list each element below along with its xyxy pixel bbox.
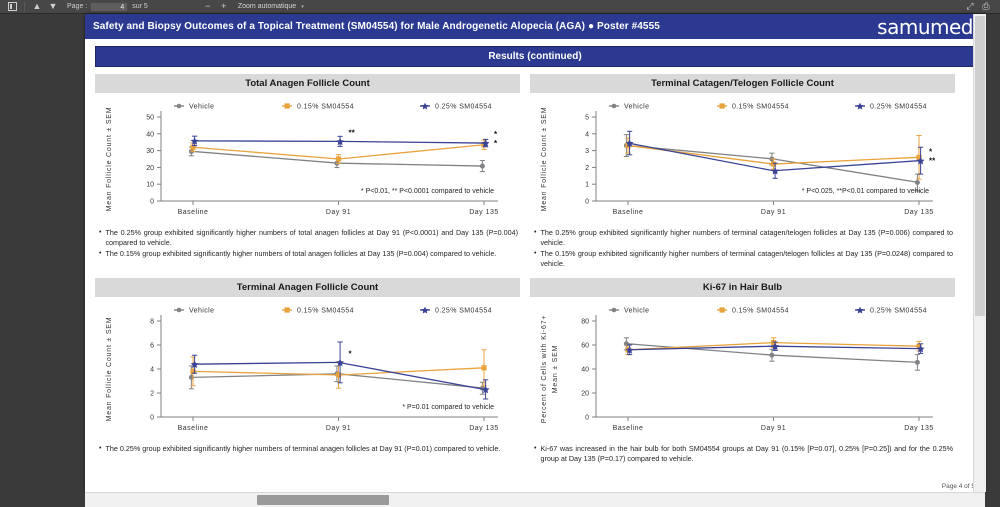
y-axis-title: Mean ± SEM xyxy=(552,345,559,393)
bullet-dot: • xyxy=(99,249,101,259)
bullet-item: •Ki-67 was increased in the hair bulb fo… xyxy=(534,444,953,463)
panel-ki67: Ki-67 in Hair Bulb 020406080Percent of C… xyxy=(530,278,955,465)
x-tick-label: Day 91 xyxy=(761,425,786,432)
bullet-dot: • xyxy=(534,228,536,247)
y-tick-label: 0 xyxy=(585,199,589,206)
x-tick-label: Day 135 xyxy=(469,425,499,432)
chart-svg-terminal-catagen-telogen: 012345Mean Follicle Count ± SEMBaselineD… xyxy=(530,95,955,223)
page-number-input[interactable]: 4 xyxy=(90,2,128,12)
chart-svg-total-anagen: 01020304050Mean Follicle Count ± SEMBase… xyxy=(95,95,520,223)
significance-marker: * xyxy=(929,148,933,157)
y-tick-label: 0 xyxy=(150,199,154,206)
page-footer: Page 4 of 5 xyxy=(942,483,975,490)
chart-terminal-catagen-telogen: 012345Mean Follicle Count ± SEMBaselineD… xyxy=(530,95,955,223)
bullet-text: The 0.25% group exhibited significantly … xyxy=(105,444,518,454)
pdf-viewer-toolbar: ▲ ▼ Page : 4 sur 5 − + Zoom automatique … xyxy=(0,0,1000,14)
chart-annotation: * P<0.025, **P<0.01 compared to vehicle xyxy=(802,188,929,195)
x-tick-label: Day 135 xyxy=(904,209,934,216)
page-count-label: sur 5 xyxy=(132,3,148,10)
zoom-out-icon[interactable]: − xyxy=(202,1,214,13)
chart-svg-terminal-anagen: 02468Mean Follicle Count ± SEMBaselineDa… xyxy=(95,299,520,439)
significance-marker: ** xyxy=(349,128,356,137)
legend-label: Vehicle xyxy=(624,104,649,111)
bullet-text: The 0.15% group exhibited significantly … xyxy=(105,249,518,259)
y-tick-label: 4 xyxy=(585,131,589,138)
bullets-ki67: •Ki-67 was increased in the hair bulb fo… xyxy=(534,444,953,463)
chart-row-bottom: Terminal Anagen Follicle Count 02468Mean… xyxy=(95,278,975,465)
bullets-terminal-anagen: •The 0.25% group exhibited significantly… xyxy=(99,444,518,454)
data-point xyxy=(915,180,920,185)
y-tick-label: 20 xyxy=(581,390,589,397)
zoom-level-value: Zoom automatique xyxy=(238,3,296,10)
toolbar-divider xyxy=(24,2,25,12)
significance-marker: ** xyxy=(929,157,936,166)
horizontal-scrollbar-thumb[interactable] xyxy=(257,495,389,505)
y-tick-label: 20 xyxy=(146,165,154,172)
bullet-item: •The 0.15% group exhibited significantly… xyxy=(99,249,518,259)
bullet-item: •The 0.25% group exhibited significantly… xyxy=(99,444,518,454)
y-tick-label: 50 xyxy=(146,115,154,122)
horizontal-scrollbar[interactable] xyxy=(85,492,985,507)
y-tick-label: 60 xyxy=(581,342,589,349)
section-header-results: Results (continued) xyxy=(95,46,975,67)
legend-label: Vehicle xyxy=(624,307,649,314)
legend-label: 0.15% SM04554 xyxy=(732,307,789,314)
y-tick-label: 3 xyxy=(585,148,589,155)
vertical-scrollbar-thumb[interactable] xyxy=(975,16,985,316)
chart-ki67: 020406080Percent of Cells with Ki-67+Mea… xyxy=(530,299,955,439)
y-tick-label: 2 xyxy=(585,165,589,172)
panel-title-terminal-catagen-telogen: Terminal Catagen/Telogen Follicle Count xyxy=(530,74,955,93)
panel-title-total-anagen: Total Anagen Follicle Count xyxy=(95,74,520,93)
data-point xyxy=(915,360,920,365)
bullet-item: •The 0.25% group exhibited significantly… xyxy=(534,228,953,247)
page-down-icon[interactable]: ▼ xyxy=(47,1,59,13)
y-tick-label: 1 xyxy=(585,182,589,189)
y-axis-title: Mean Follicle Count ± SEM xyxy=(106,316,113,421)
bullet-text: The 0.25% group exhibited significantly … xyxy=(105,228,518,247)
data-point xyxy=(481,365,486,370)
legend-label: Vehicle xyxy=(189,307,214,314)
data-point xyxy=(336,156,341,161)
bullets-total-anagen: •The 0.25% group exhibited significantly… xyxy=(99,228,518,259)
x-tick-label: Day 91 xyxy=(326,209,351,216)
legend-label: 0.15% SM04554 xyxy=(297,307,354,314)
x-tick-label: Baseline xyxy=(178,209,209,216)
legend-label: 0.25% SM04554 xyxy=(435,307,492,314)
panel-terminal-anagen: Terminal Anagen Follicle Count 02468Mean… xyxy=(95,278,520,465)
bullet-text: Ki-67 was increased in the hair bulb for… xyxy=(540,444,953,463)
legend-label: 0.25% SM04554 xyxy=(870,307,927,314)
panel-total-anagen: Total Anagen Follicle Count 01020304050M… xyxy=(95,74,520,271)
panel-terminal-catagen-telogen: Terminal Catagen/Telogen Follicle Count … xyxy=(530,74,955,271)
chart-annotation: * P=0.01 compared to vehicle xyxy=(402,404,494,411)
bullet-item: •The 0.25% group exhibited significantly… xyxy=(99,228,518,247)
data-point xyxy=(480,164,485,169)
bullet-text: The 0.15% group exhibited significantly … xyxy=(540,249,953,268)
bullet-text: The 0.25% group exhibited significantly … xyxy=(540,228,953,247)
legend-label: 0.15% SM04554 xyxy=(732,104,789,111)
samumed-logo: samumed xyxy=(877,15,985,39)
fullscreen-icon[interactable]: ⤢ xyxy=(964,1,976,13)
y-tick-label: 8 xyxy=(150,318,154,325)
pdf-page: Safety and Biopsy Outcomes of a Topical … xyxy=(85,14,985,492)
y-tick-label: 10 xyxy=(146,182,154,189)
zoom-level-select[interactable]: Zoom automatique ▾ xyxy=(238,3,304,10)
zoom-in-icon[interactable]: + xyxy=(218,1,230,13)
chevron-down-icon: ▾ xyxy=(301,4,304,10)
significance-marker: * xyxy=(349,349,353,358)
sidebar-toggle-icon[interactable] xyxy=(6,1,18,13)
page-number-label: Page : xyxy=(67,3,87,10)
vertical-scrollbar[interactable] xyxy=(973,14,986,492)
y-tick-label: 5 xyxy=(585,115,589,122)
chart-svg-ki67-hair-bulb: 020406080Percent of Cells with Ki-67+Mea… xyxy=(530,299,955,439)
chart-terminal-anagen: 02468Mean Follicle Count ± SEMBaselineDa… xyxy=(95,299,520,439)
y-tick-label: 2 xyxy=(150,390,154,397)
x-tick-label: Baseline xyxy=(178,425,209,432)
y-tick-label: 0 xyxy=(150,414,154,421)
panel-title-ki67: Ki-67 in Hair Bulb xyxy=(530,278,955,297)
x-tick-label: Baseline xyxy=(613,425,644,432)
x-tick-label: Baseline xyxy=(613,209,644,216)
bullets-terminal-catagen-telogen: •The 0.25% group exhibited significantly… xyxy=(534,228,953,269)
chart-row-top: Total Anagen Follicle Count 01020304050M… xyxy=(95,74,975,271)
y-tick-label: 40 xyxy=(146,131,154,138)
bullet-item: •The 0.15% group exhibited significantly… xyxy=(534,249,953,268)
legend-label: 0.25% SM04554 xyxy=(435,104,492,111)
bullet-dot: • xyxy=(534,249,536,268)
significance-marker: * xyxy=(494,130,498,139)
panel-title-terminal-anagen: Terminal Anagen Follicle Count xyxy=(95,278,520,297)
poster-title: Safety and Biopsy Outcomes of a Topical … xyxy=(93,21,660,32)
bullet-dot: • xyxy=(99,444,101,454)
print-icon[interactable]: ⎙ xyxy=(980,1,992,13)
x-tick-label: Day 91 xyxy=(326,425,351,432)
chart-total-anagen: 01020304050Mean Follicle Count ± SEMBase… xyxy=(95,95,520,223)
data-point xyxy=(769,353,774,358)
y-tick-label: 0 xyxy=(585,414,589,421)
legend-label: 0.25% SM04554 xyxy=(870,104,927,111)
y-tick-label: 40 xyxy=(581,366,589,373)
y-axis-title: Mean Follicle Count ± SEM xyxy=(541,107,548,212)
x-tick-label: Day 91 xyxy=(761,209,786,216)
y-axis-title: Mean Follicle Count ± SEM xyxy=(106,107,113,212)
y-axis-title: Percent of Cells with Ki-67+ xyxy=(541,315,548,424)
bullet-dot: • xyxy=(534,444,536,463)
x-tick-label: Day 135 xyxy=(904,425,934,432)
poster-body: Results (continued) Total Anagen Follicl… xyxy=(85,39,985,492)
y-tick-label: 80 xyxy=(581,318,589,325)
y-tick-label: 30 xyxy=(146,148,154,155)
page-up-icon[interactable]: ▲ xyxy=(31,1,43,13)
y-tick-label: 4 xyxy=(150,366,154,373)
x-tick-label: Day 135 xyxy=(469,209,499,216)
y-tick-label: 6 xyxy=(150,342,154,349)
legend-label: Vehicle xyxy=(189,104,214,111)
legend-label: 0.15% SM04554 xyxy=(297,104,354,111)
poster-header: Safety and Biopsy Outcomes of a Topical … xyxy=(85,14,985,39)
significance-marker: * xyxy=(494,139,498,148)
bullet-dot: • xyxy=(99,228,101,247)
chart-annotation: * P<0.01, ** P<0.0001 compared to vehicl… xyxy=(361,188,494,195)
